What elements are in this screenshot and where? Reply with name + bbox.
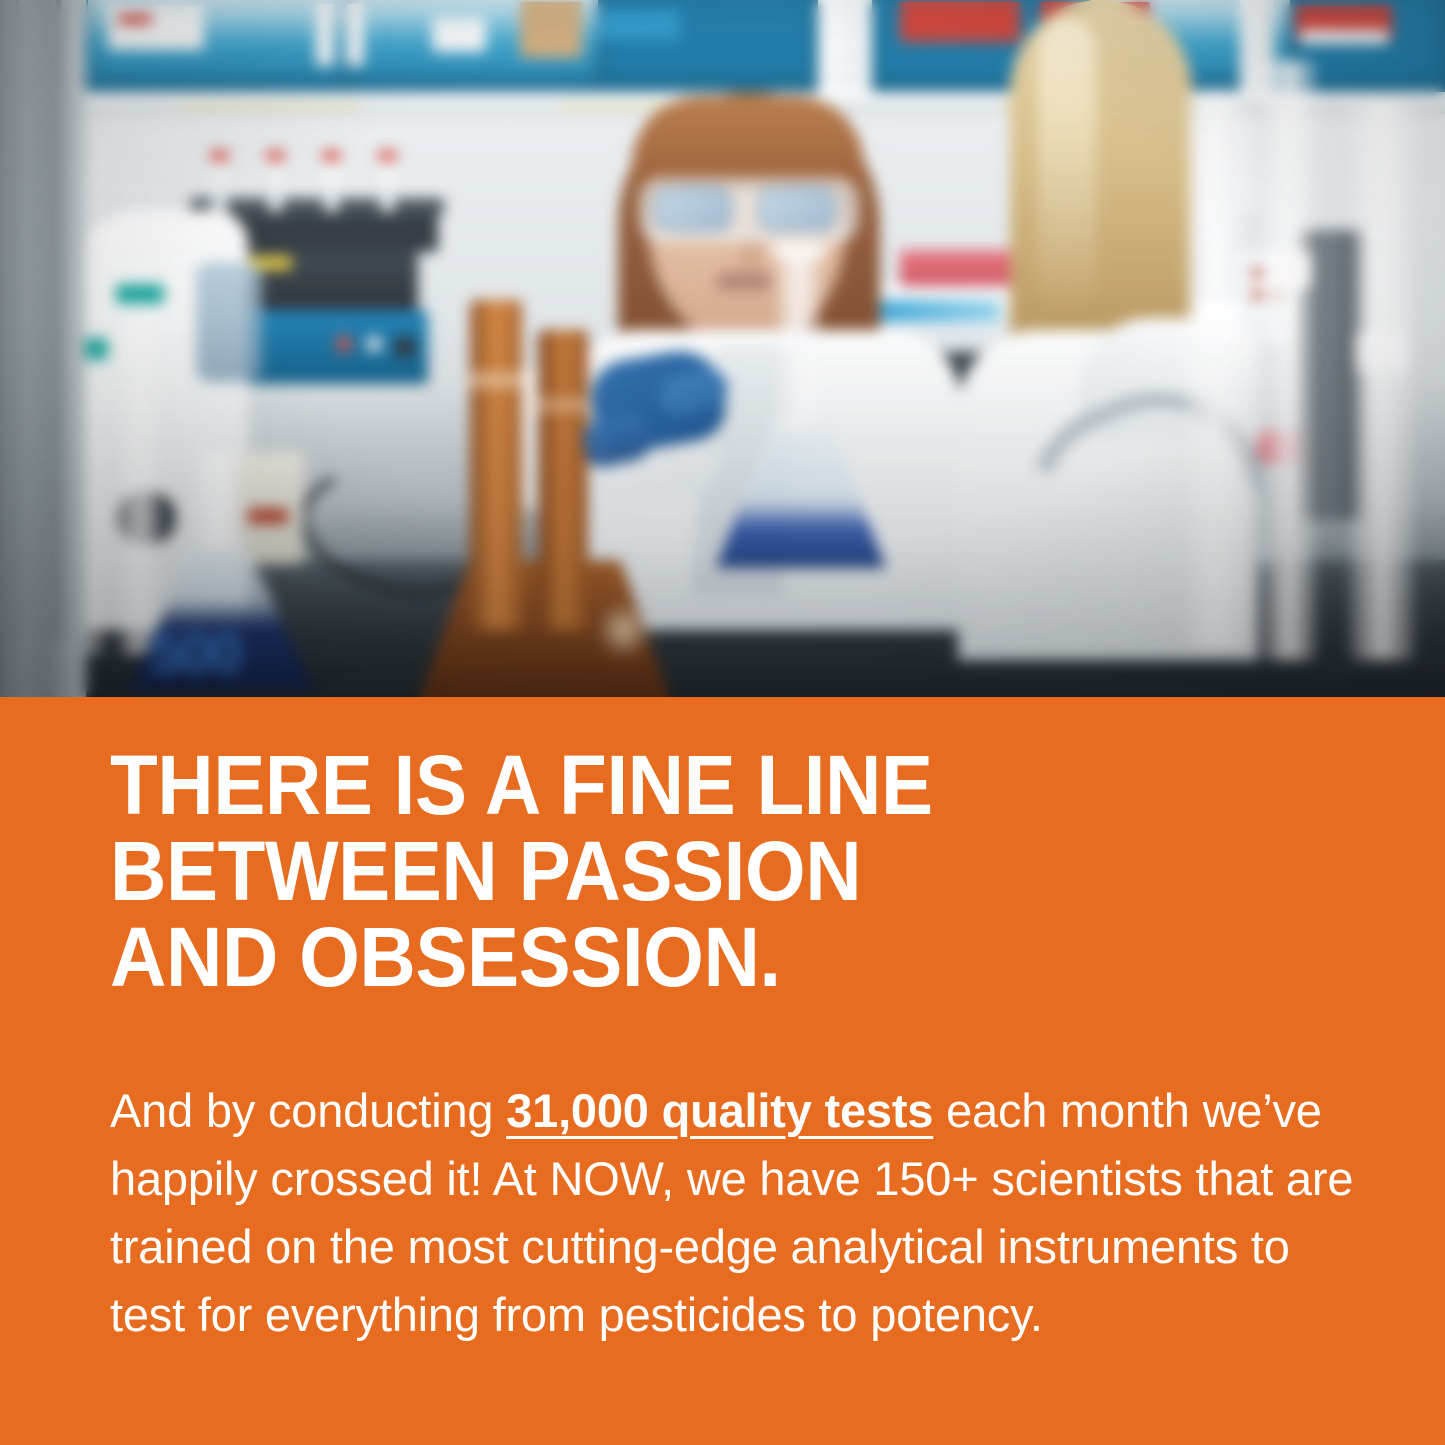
body-text-before: And by conducting [110,1084,506,1137]
quality-tests-emphasis: 31,000 quality tests [506,1084,933,1137]
body-paragraph: And by conducting 31,000 quality tests e… [110,1077,1360,1349]
promo-card: 500 THERE IS A FINE LINE BETWEEN PASSION [0,0,1445,1445]
headline-line-2: BETWEEN PASSION [110,828,1263,914]
photo-vignette [0,0,1445,697]
headline: THERE IS A FINE LINE BETWEEN PASSION AND… [110,742,1263,1000]
laboratory-photo: 500 [0,0,1445,697]
headline-line-1: THERE IS A FINE LINE [110,742,1263,828]
orange-message-panel: THERE IS A FINE LINE BETWEEN PASSION AND… [0,697,1445,1445]
headline-line-3: AND OBSESSION. [110,914,1263,1000]
